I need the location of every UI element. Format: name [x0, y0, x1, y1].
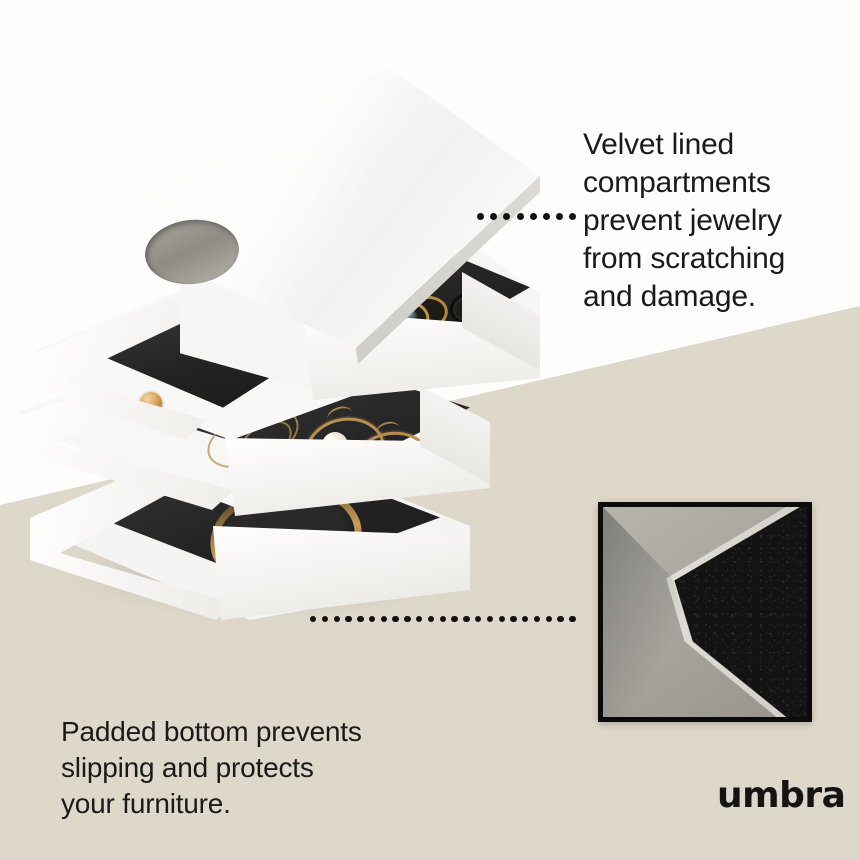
- product-feature-image: Velvet lined compartments prevent jewelr…: [0, 0, 860, 860]
- inset-photo-content: [603, 507, 807, 717]
- leader-dots-padded: [310, 616, 576, 622]
- inset-detail-photo: [598, 502, 812, 722]
- product-photo-stacked-trays: [0, 40, 600, 630]
- brand-logo: umbra: [717, 778, 845, 814]
- leader-dots-velvet: [477, 213, 576, 220]
- callout-text-padded: Padded bottom prevents slipping and prot…: [61, 714, 362, 822]
- callout-text-velvet: Velvet lined compartments prevent jewelr…: [583, 126, 785, 316]
